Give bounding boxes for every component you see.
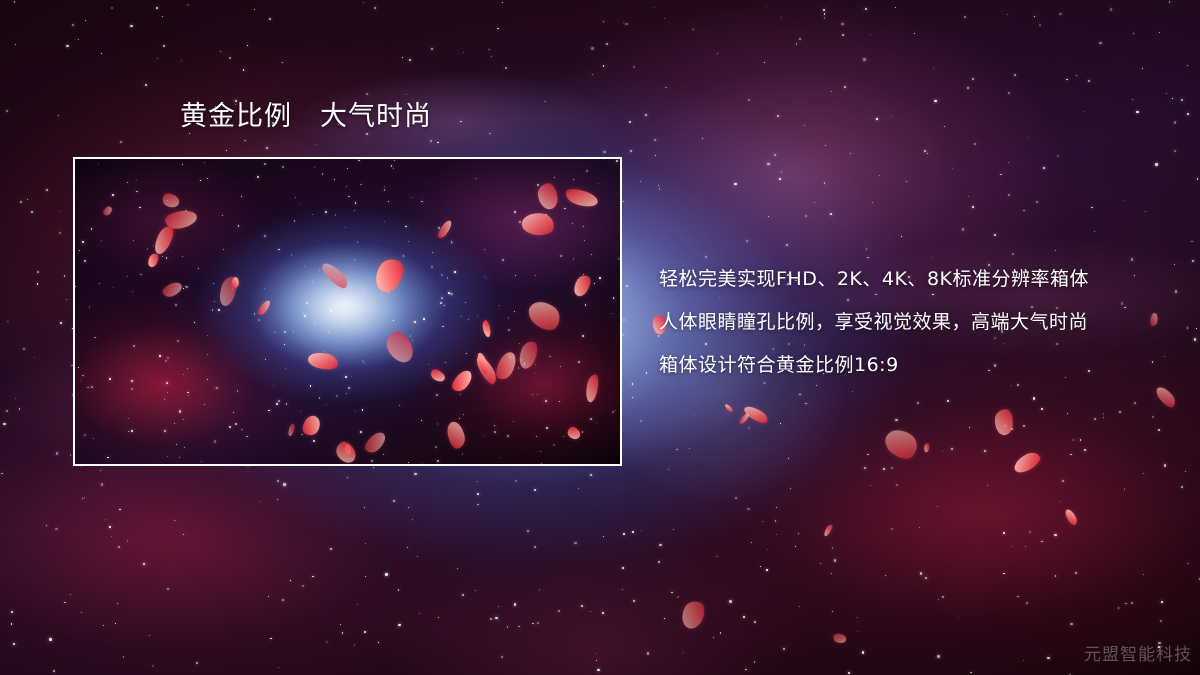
photo-core-glow xyxy=(260,251,424,367)
body-line-1: 轻松完美实现FHD、2K、4K、8K标准分辨率箱体 xyxy=(659,258,1179,301)
page-title: 黄金比例 大气时尚 xyxy=(180,101,432,133)
presentation-slide: 黄金比例 大气时尚 轻松完美实现FHD、2K、4K、8K标准分辨率箱体 人体眼睛… xyxy=(0,0,1200,675)
body-text-block: 轻松完美实现FHD、2K、4K、8K标准分辨率箱体 人体眼睛瞳孔比例，享受视觉效… xyxy=(659,258,1179,387)
body-line-3: 箱体设计符合黄金比例16:9 xyxy=(659,344,1179,387)
watermark: 元盟智能科技 xyxy=(1084,640,1192,665)
body-line-2: 人体眼睛瞳孔比例，享受视觉效果，高端大气时尚 xyxy=(659,301,1179,344)
framed-photo xyxy=(73,157,622,466)
